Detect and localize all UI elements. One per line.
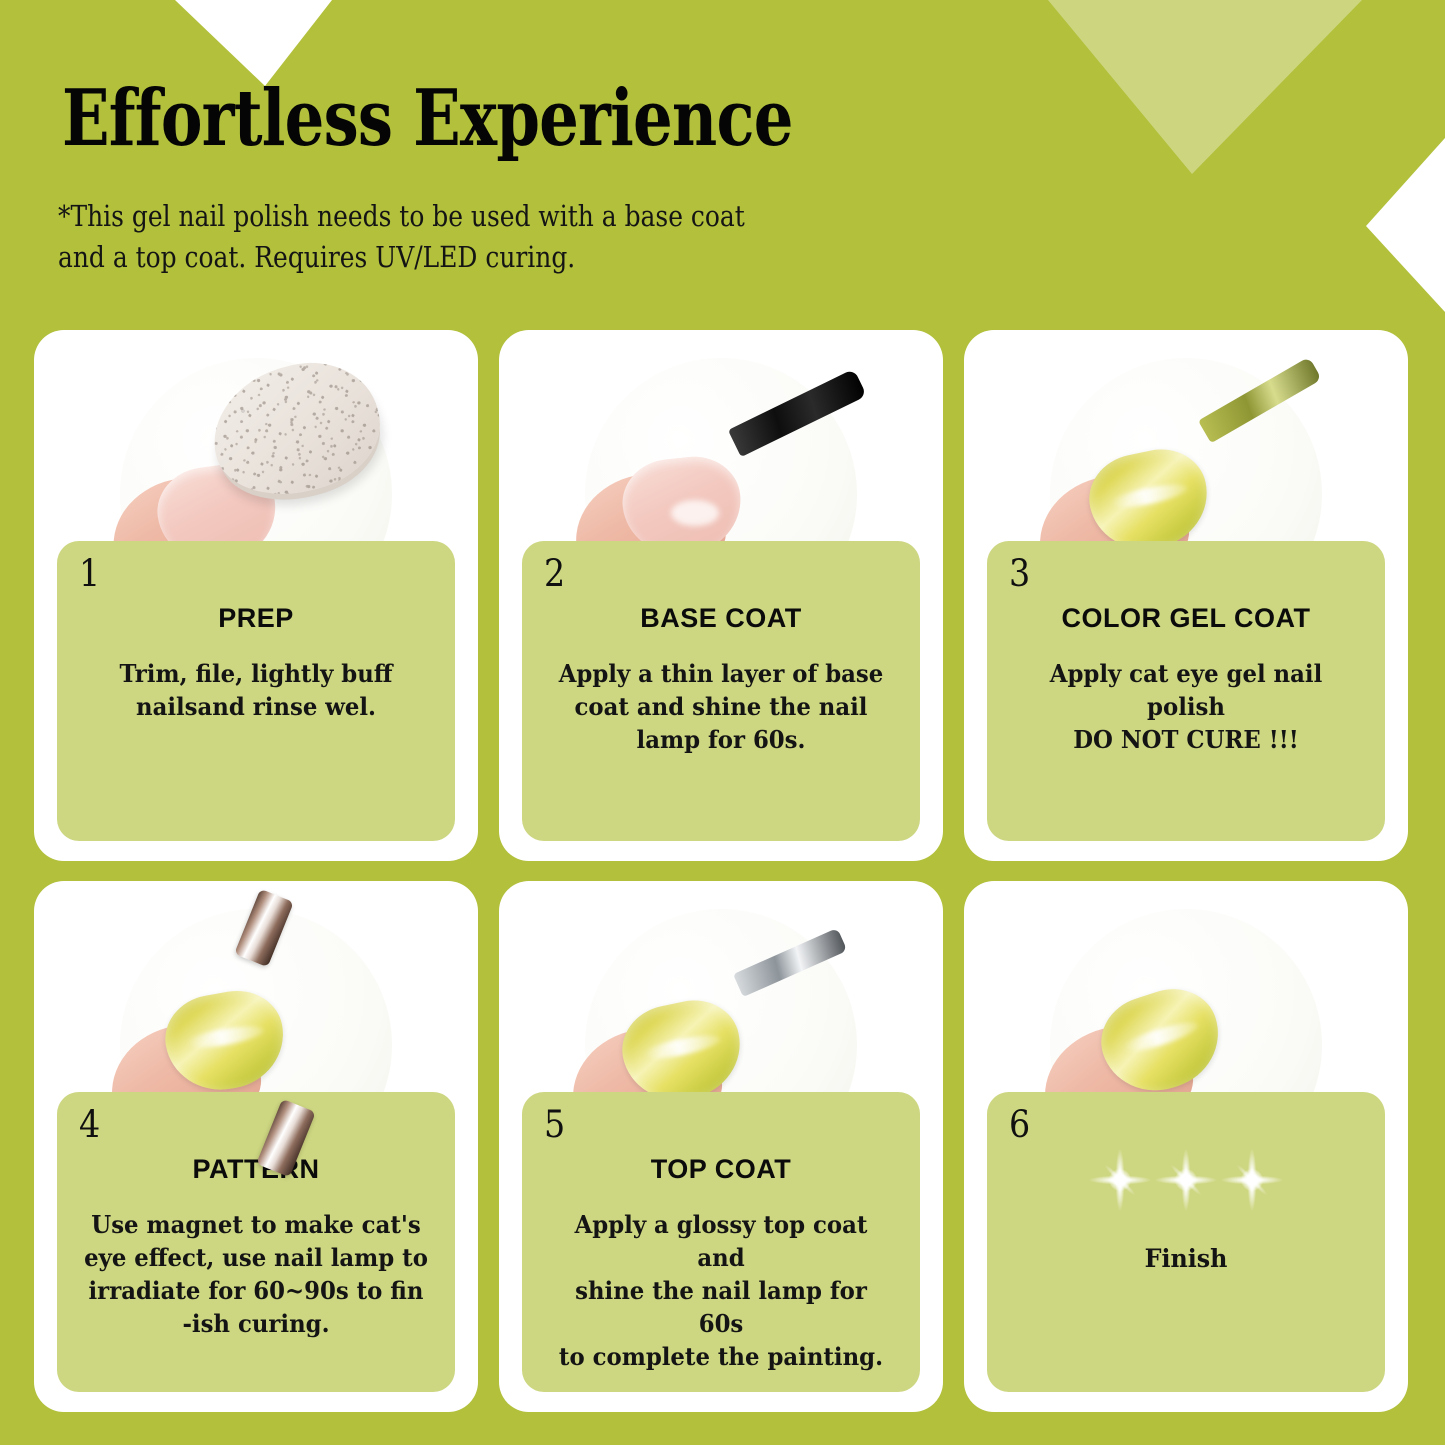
step-card-4[interactable]: 4 PATTERN Use magnet to make cat's eye e… (34, 881, 478, 1412)
step-number: 5 (544, 1106, 565, 1143)
page-subtitle: *This gel nail polish needs to be used w… (58, 196, 745, 278)
step-4-panel: 4 PATTERN Use magnet to make cat's eye e… (57, 1092, 455, 1392)
step-description: Apply a glossy top coat and shine the na… (549, 1208, 893, 1374)
step-card-2[interactable]: 2 BASE COAT Apply a thin layer of base c… (499, 330, 943, 861)
step-5-panel: 5 TOP COAT Apply a glossy top coat and s… (522, 1092, 920, 1392)
step-description: Trim, file, lightly buff nailsand rinse … (84, 657, 428, 723)
step-number: 1 (79, 555, 100, 592)
step-card-5[interactable]: 5 TOP COAT Apply a glossy top coat and s… (499, 881, 943, 1412)
sparkle-icon (1155, 1149, 1217, 1211)
page-title: Effortless Experience (62, 80, 793, 158)
step-title: PATTERN (57, 1154, 455, 1185)
header: Effortless Experience *This gel nail pol… (0, 0, 1445, 330)
step-card-1[interactable]: 1 PREP Trim, file, lightly buff nailsand… (34, 330, 478, 861)
step-number: 2 (544, 555, 565, 592)
step-description: Apply a thin layer of base coat and shin… (549, 657, 893, 756)
step-description: Finish (1014, 1242, 1358, 1277)
step-card-6[interactable]: 6 Finish (964, 881, 1408, 1412)
step-2-panel: 2 BASE COAT Apply a thin layer of base c… (522, 541, 920, 841)
step-title: COLOR GEL COAT (987, 603, 1385, 634)
sparkle-icons (987, 1140, 1385, 1220)
step-number: 3 (1009, 555, 1030, 592)
steps-grid: 1 PREP Trim, file, lightly buff nailsand… (34, 330, 1411, 1412)
step-description: Apply cat eye gel nail polish DO NOT CUR… (1014, 657, 1358, 756)
step-number: 4 (79, 1106, 100, 1143)
step-title: PREP (57, 603, 455, 634)
sparkle-icon (1089, 1149, 1151, 1211)
step-1-panel: 1 PREP Trim, file, lightly buff nailsand… (57, 541, 455, 841)
step-title: BASE COAT (522, 603, 920, 634)
step-3-panel: 3 COLOR GEL COAT Apply cat eye gel nail … (987, 541, 1385, 841)
step-title: TOP COAT (522, 1154, 920, 1185)
step-card-3[interactable]: 3 COLOR GEL COAT Apply cat eye gel nail … (964, 330, 1408, 861)
step-description: Use magnet to make cat's eye effect, use… (84, 1208, 428, 1340)
step-6-panel: 6 Finish (987, 1092, 1385, 1392)
step-number: 6 (1009, 1106, 1030, 1143)
sparkle-icon (1221, 1149, 1283, 1211)
